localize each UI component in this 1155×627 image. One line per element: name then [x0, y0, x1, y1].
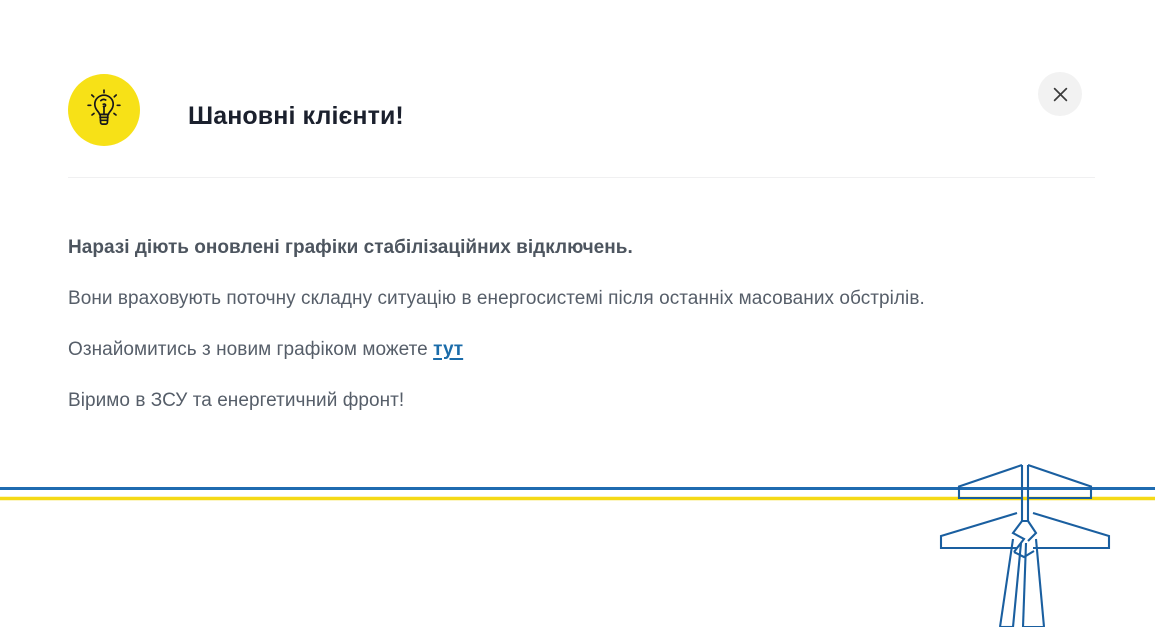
body-line-3-text: Ознайомитись з новим графіком можете: [68, 339, 433, 360]
close-icon: [1052, 86, 1069, 103]
body-line-2: Вони враховують поточну складну ситуацію…: [68, 285, 1098, 312]
header-divider: [68, 177, 1095, 178]
modal-body: Наразі діють оновлені графіки стабілізац…: [68, 234, 1098, 414]
power-transmission-tower-artwork: [0, 447, 1155, 627]
body-line-3: Ознайомитись з новим графіком можете тут: [68, 336, 1098, 363]
body-line-4: Віримо в ЗСУ та енергетичний фронт!: [68, 387, 1098, 414]
body-line-1: Наразі діють оновлені графіки стабілізац…: [68, 234, 1098, 261]
page-title: Шановні клієнти!: [188, 99, 404, 133]
modal-header: Шановні клієнти!: [0, 0, 1155, 177]
lightbulb-icon: [68, 74, 140, 146]
schedule-link[interactable]: тут: [433, 339, 463, 360]
close-button[interactable]: [1038, 72, 1082, 116]
notification-modal: Шановні клієнти! Наразі діють оновлені г…: [0, 0, 1155, 627]
